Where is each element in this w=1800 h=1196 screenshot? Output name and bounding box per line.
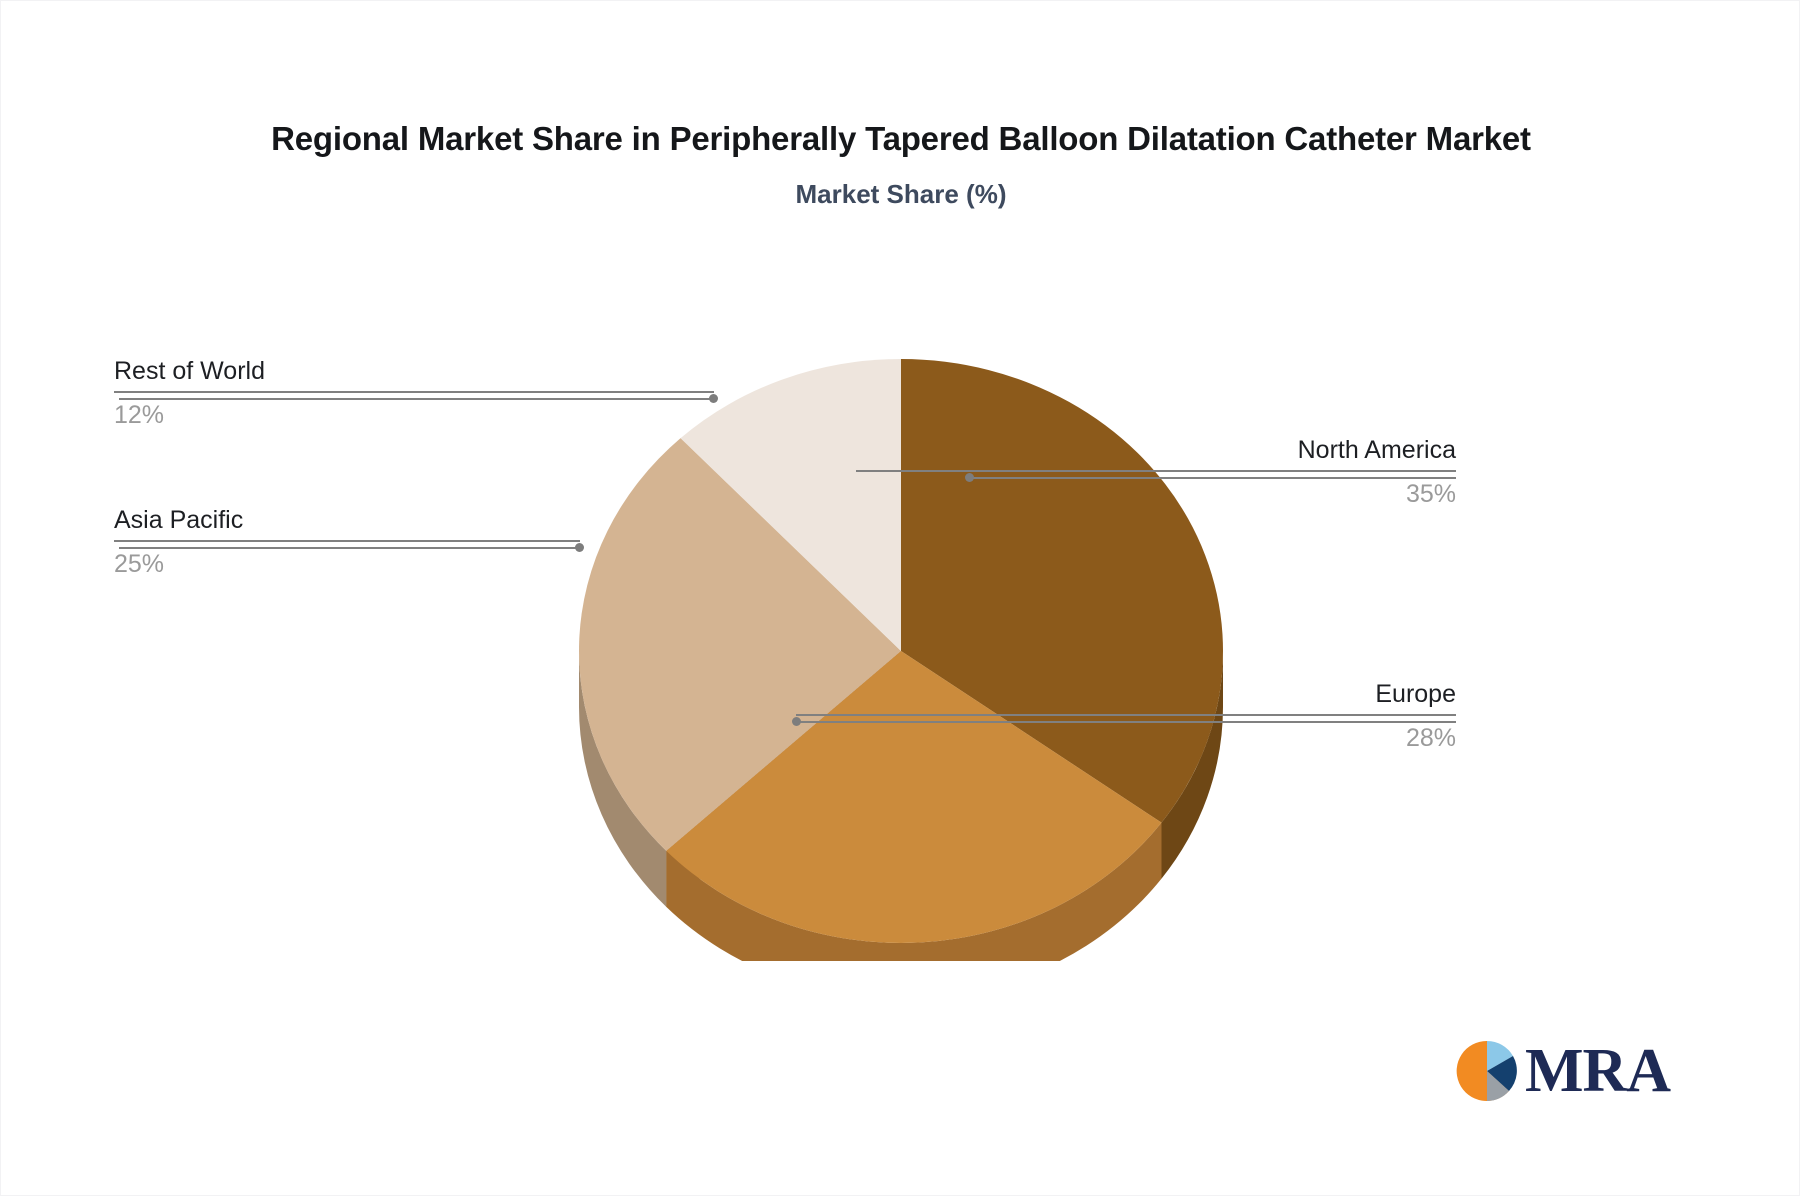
label-rest-of-world-name: Rest of World [114,356,714,391]
chart-title: Regional Market Share in Peripherally Ta… [1,119,1800,159]
pie-chart-svg [561,341,1241,961]
label-europe[interactable]: Europe 28% [796,679,1456,755]
label-rest-of-world-value: 12% [114,393,714,432]
label-asia-pacific[interactable]: Asia Pacific 25% [114,505,580,581]
label-north-america-name: North America [856,435,1456,470]
mra-pie-mark-icon [1453,1037,1521,1105]
chart-subtitle: Market Share (%) [1,179,1800,210]
mra-logo[interactable]: MRA [1453,1037,1670,1105]
chart-canvas: Regional Market Share in Peripherally Ta… [0,0,1800,1196]
pie-chart [561,341,1241,961]
label-north-america-value: 35% [856,472,1456,511]
label-north-america[interactable]: North America 35% [856,435,1456,511]
label-europe-name: Europe [796,679,1456,714]
label-europe-value: 28% [796,716,1456,755]
label-asia-pacific-value: 25% [114,542,580,581]
mra-logo-text: MRA [1525,1040,1670,1102]
chart-header: Regional Market Share in Peripherally Ta… [1,119,1800,210]
label-rest-of-world[interactable]: Rest of World 12% [114,356,714,432]
label-asia-pacific-name: Asia Pacific [114,505,580,540]
